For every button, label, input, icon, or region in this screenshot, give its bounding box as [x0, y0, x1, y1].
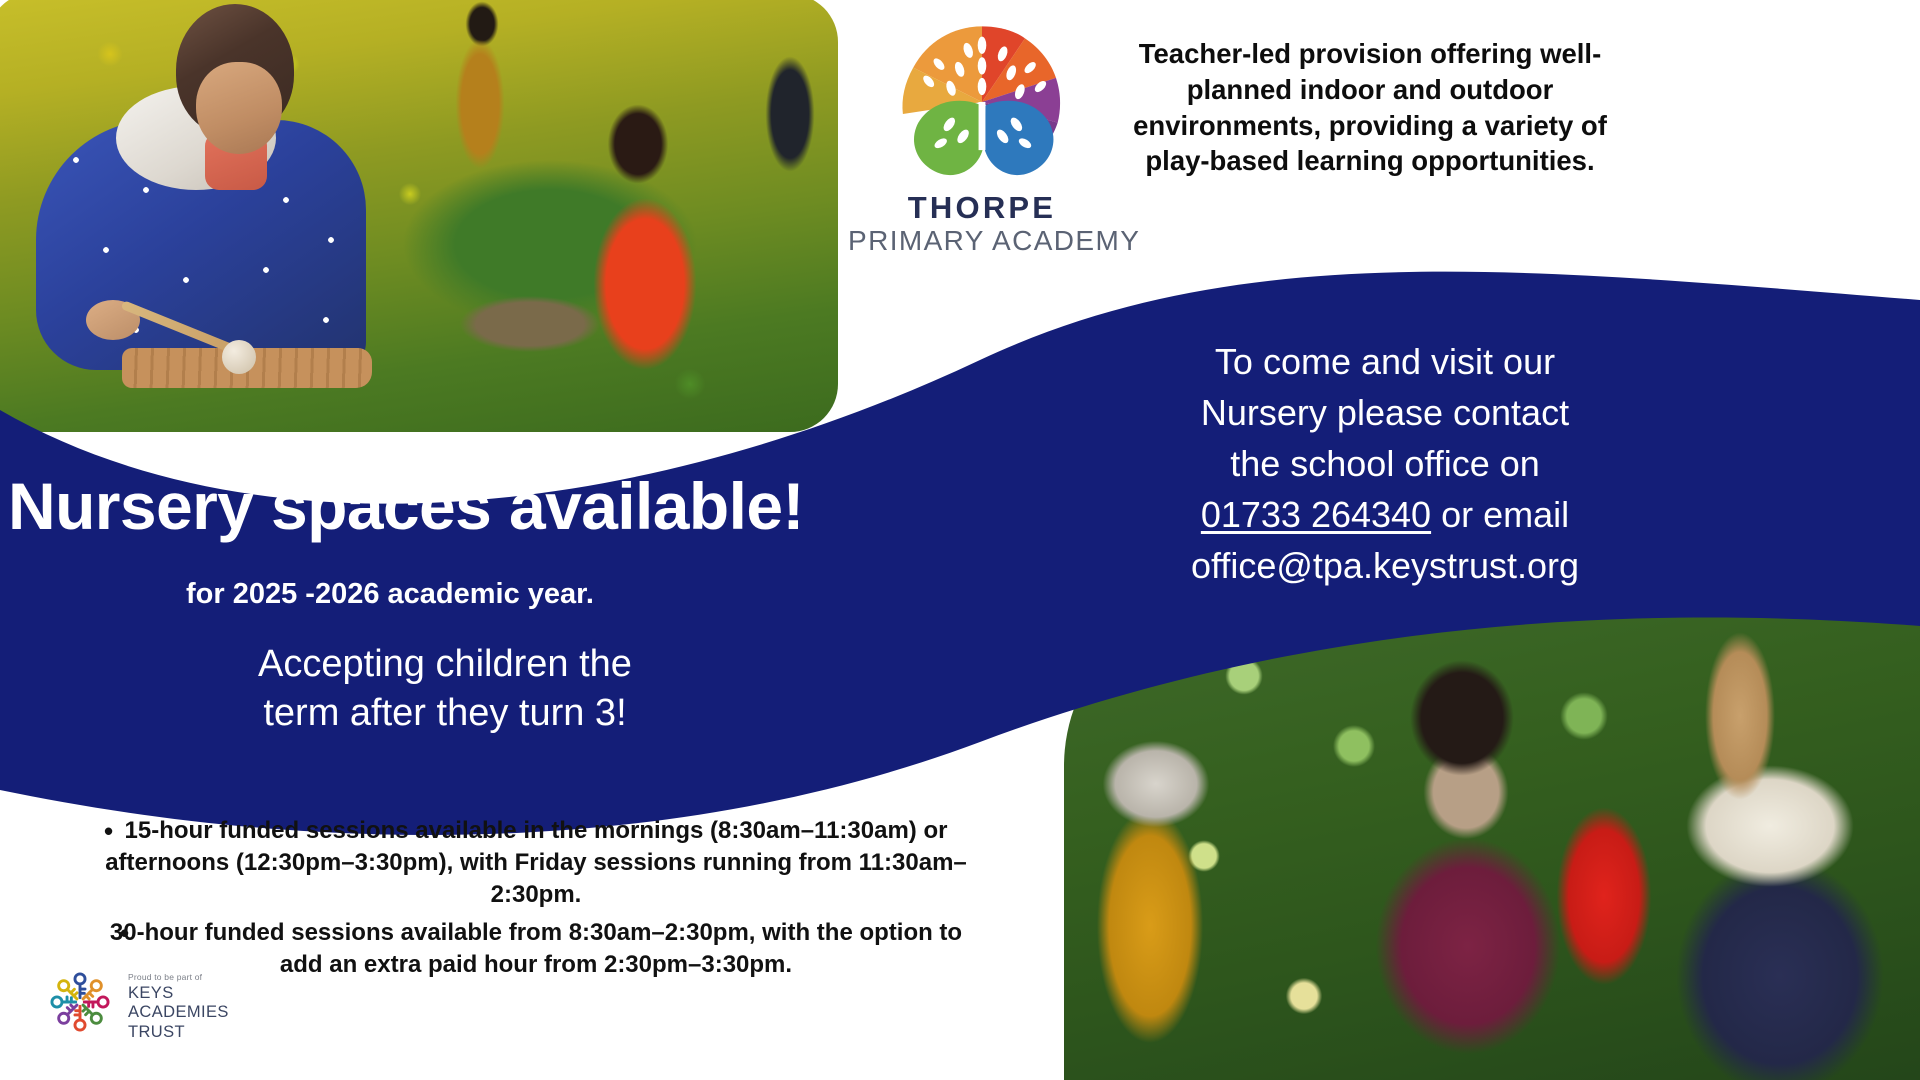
- photo-children-walking-woodland: [1064, 596, 1920, 1080]
- contact-line-2: Nursery please contact: [1150, 387, 1620, 438]
- list-item-text: 30-hour funded sessions available from 8…: [110, 919, 962, 978]
- contact-line-3: the school office on: [1150, 438, 1620, 489]
- list-item: • 15-hour funded sessions available in t…: [96, 815, 976, 911]
- keys-trust-text: Proud to be part of KEYS ACADEMIES TRUST: [128, 966, 229, 1042]
- academic-year: for 2025 -2026 academic year.: [186, 578, 806, 611]
- mallet-head: [222, 340, 256, 374]
- contact-line-1: To come and visit our: [1150, 336, 1620, 387]
- bullet-marker: •: [104, 815, 113, 848]
- list-item-text: 15-hour funded sessions available in the…: [105, 817, 967, 908]
- nursery-spaces-flyer: THORPE PRIMARY ACADEMY Teacher-led provi…: [0, 0, 1920, 1080]
- brand-subtitle: PRIMARY ACADEMY: [848, 225, 1116, 257]
- brand-name: THORPE: [848, 192, 1116, 225]
- keys-mark-icon: [44, 966, 116, 1038]
- provision-description: Teacher-led provision offering well-plan…: [1120, 36, 1620, 179]
- thorpe-primary-academy-logo: THORPE PRIMARY ACADEMY: [848, 16, 1116, 257]
- trust-line-2: ACADEMIES: [128, 1003, 229, 1022]
- thorpe-tree-icon: [896, 16, 1068, 188]
- session-details: • 15-hour funded sessions available in t…: [96, 815, 976, 987]
- trust-preamble: Proud to be part of: [128, 972, 229, 982]
- phone-suffix: or email: [1431, 494, 1569, 535]
- contact-block: To come and visit our Nursery please con…: [1150, 336, 1620, 592]
- page-title: Nursery spaces available!: [8, 472, 938, 541]
- girl-face: [196, 62, 282, 154]
- trust-line-3: TRUST: [128, 1023, 229, 1042]
- age-eligibility: Accepting children the term after they t…: [230, 640, 660, 737]
- trust-line-1: KEYS: [128, 984, 229, 1003]
- contact-phone-line: 01733 264340 or email: [1150, 489, 1620, 540]
- email-address[interactable]: office@tpa.keystrust.org: [1150, 540, 1620, 591]
- bullet-marker: •: [120, 917, 129, 950]
- keys-academies-trust-logo: Proud to be part of KEYS ACADEMIES TRUST: [44, 966, 229, 1042]
- phone-number[interactable]: 01733 264340: [1201, 494, 1431, 535]
